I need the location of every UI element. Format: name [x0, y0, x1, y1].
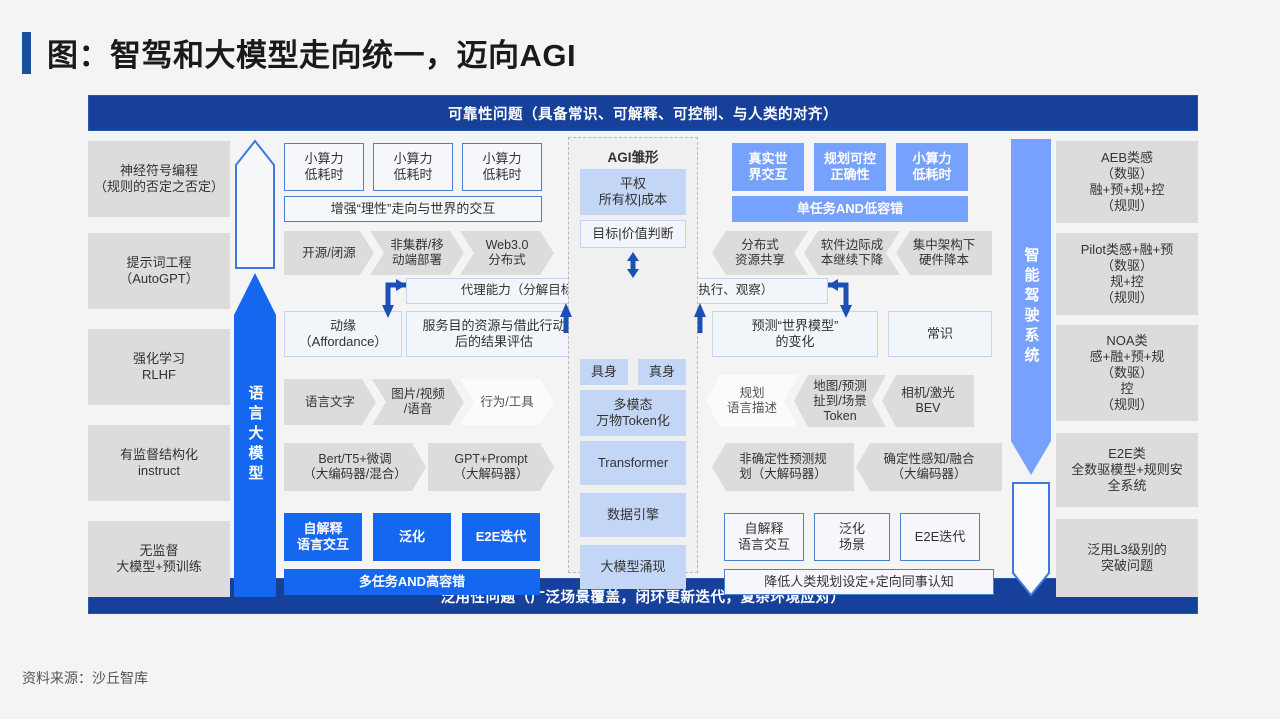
left-bottom-wide: 多任务AND高容错 — [284, 569, 540, 595]
right-chevron-r3-0: 非确定性预测规 划（大解码器） — [712, 443, 854, 491]
agi-emergence-box: 大模型涌现 — [580, 545, 686, 589]
up-arrow-solid: 语言大模型 — [234, 273, 276, 597]
down-arrow-outline — [1011, 481, 1051, 597]
right-chevron-r1-2: 集中架构下 硬件降本 — [896, 231, 992, 275]
right-bottom-wide: 降低人类规划设定+定向同事认知 — [724, 569, 994, 595]
left-chevron-r1-1: 非集群/移 动端部署 — [370, 231, 464, 275]
agi-data-engine-box: 数据引擎 — [580, 493, 686, 537]
title-accent-bar — [22, 32, 31, 74]
source-note: 资料来源：沙丘智库 — [22, 668, 148, 688]
agi-goal-value-box: 目标|价值判断 — [580, 220, 686, 248]
agi-equity-box: 平权 所有权|成本 — [580, 169, 686, 215]
page-title: 图：智驾和大模型走向统一，迈向AGI — [47, 30, 576, 75]
right-chevron-r2-0: 规划 语言描述 — [706, 375, 798, 427]
agi-transformer-box: Transformer — [580, 441, 686, 485]
right-chevron-r2-2: 相机/激光 BEV — [882, 375, 974, 427]
right-chevron-r3-1: 确定性感知/融合 （大编码器） — [856, 443, 1002, 491]
right-chip-1: 规划可控 正确性 — [814, 143, 886, 191]
agi-multimodal-box: 多模态 万物Token化 — [580, 390, 686, 436]
up-arrow-outline — [234, 139, 276, 270]
left-col-item-0: 神经符号编程 （规则的否定之否定） — [88, 141, 230, 217]
diagram-frame: 可靠性问题（具备常识、可解释、可控制、与人类的对齐） 泛用性问题（广泛场景覆盖，… — [88, 95, 1198, 614]
right-chevron-r1-1: 软件边际成 本继续下降 — [804, 231, 900, 275]
affordance-box: 动缘 （Affordance） — [284, 311, 402, 357]
left-col-item-2: 强化学习 RLHF — [88, 329, 230, 405]
left-col-item-1: 提示词工程 （AutoGPT） — [88, 233, 230, 309]
world-model-box: 预测“世界模型” 的变化 — [712, 311, 878, 357]
right-col-item-2: NOA类 感+融+预+规 （数驱） 控 （规则） — [1056, 325, 1198, 421]
agi-panel-title: AGI雏形 — [568, 146, 698, 166]
left-chip-2: 小算力 低耗时 — [462, 143, 542, 191]
title-row: 图：智驾和大模型走向统一，迈向AGI — [22, 30, 576, 75]
left-col-item-4: 无监督 大模型+预训练 — [88, 521, 230, 597]
left-chevron-r2-2: 行为/工具 — [460, 379, 554, 425]
right-wide-chip: 单任务AND低容错 — [732, 196, 968, 222]
left-wide-chip: 增强“理性”走向与世界的交互 — [284, 196, 542, 222]
right-col-item-4: 泛用L3级别的 突破问题 — [1056, 519, 1198, 597]
left-chevron-r1-2: Web3.0 分布式 — [460, 231, 554, 275]
left-chip-1: 小算力 低耗时 — [373, 143, 453, 191]
right-bottom-chip-2: E2E迭代 — [900, 513, 980, 561]
right-bottom-chip-0: 自解释 语言交互 — [724, 513, 804, 561]
service-eval-box: 服务目的资源与借此行动 后的结果评估 — [406, 311, 582, 357]
left-bottom-chip-2: E2E迭代 — [462, 513, 540, 561]
band-reliability: 可靠性问题（具备常识、可解释、可控制、与人类的对齐） — [88, 95, 1198, 131]
common-sense-box: 常识 — [888, 311, 992, 357]
right-col-item-0: AEB类感 （数驱） 融+预+规+控 （规则） — [1056, 141, 1198, 223]
right-bottom-chip-1: 泛化 场景 — [814, 513, 890, 561]
diagram-stage: 神经符号编程 （规则的否定之否定） 提示词工程 （AutoGPT） 强化学习 R… — [88, 137, 1198, 573]
agi-embodied-0: 具身 — [580, 359, 628, 385]
right-chevron-r1-0: 分布式 资源共享 — [712, 231, 808, 275]
left-chevron-r3-1: GPT+Prompt （大解码器） — [428, 443, 554, 491]
left-col-item-3: 有监督结构化 instruct — [88, 425, 230, 501]
left-chip-0: 小算力 低耗时 — [284, 143, 364, 191]
left-chevron-r1-0: 开源/闭源 — [284, 231, 374, 275]
right-col-item-1: Pilot类感+融+预 （数驱） 规+控 （规则） — [1056, 233, 1198, 315]
left-chevron-r2-0: 语言文字 — [284, 379, 376, 425]
right-arrow-label: 智能驾驶系统 — [1021, 247, 1042, 367]
left-bottom-chip-1: 泛化 — [373, 513, 451, 561]
right-chip-2: 小算力 低耗时 — [896, 143, 968, 191]
agi-embodied-1: 真身 — [638, 359, 686, 385]
left-bottom-chip-0: 自解释 语言交互 — [284, 513, 362, 561]
down-arrow-solid: 智能驾驶系统 — [1011, 139, 1051, 475]
left-chevron-r3-0: Bert/T5+微调 （大编码器/混合） — [284, 443, 426, 491]
right-chip-0: 真实世 界交互 — [732, 143, 804, 191]
left-arrow-label: 语言大模型 — [245, 385, 266, 485]
left-chevron-r2-1: 图片/视频 /语音 — [372, 379, 464, 425]
right-chevron-r2-1: 地图/预测 扯到/场景 Token — [794, 375, 886, 427]
right-col-item-3: E2E类 全数驱模型+规则安 全系统 — [1056, 433, 1198, 507]
